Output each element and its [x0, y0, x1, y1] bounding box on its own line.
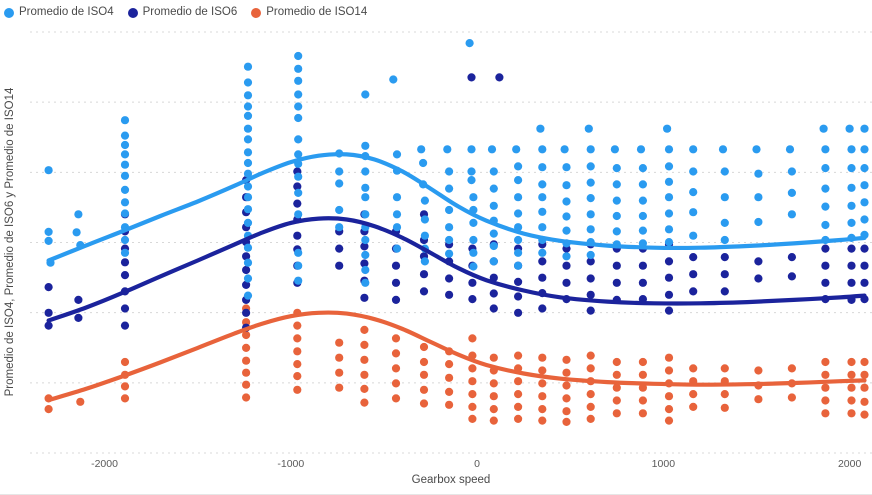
data-point: [361, 279, 369, 287]
data-point: [360, 399, 368, 407]
data-point: [587, 194, 595, 202]
data-point: [721, 253, 729, 261]
data-point: [242, 344, 250, 352]
data-point: [361, 90, 369, 98]
data-point: [293, 232, 301, 240]
data-point: [467, 73, 475, 81]
data-point: [121, 358, 129, 366]
data-point: [754, 257, 762, 265]
data-point: [445, 388, 453, 396]
data-point: [361, 184, 369, 192]
data-point: [468, 377, 476, 385]
data-point: [860, 279, 868, 287]
data-point: [512, 145, 520, 153]
data-point: [587, 352, 595, 360]
data-point: [392, 262, 400, 270]
data-point: [360, 385, 368, 393]
data-point: [242, 266, 250, 274]
data-point: [244, 91, 252, 99]
data-point: [562, 212, 570, 220]
data-point: [665, 307, 673, 315]
data-point: [121, 382, 129, 390]
data-point: [443, 145, 451, 153]
data-point: [587, 291, 595, 299]
data-point: [244, 135, 252, 143]
trend-line-series-1: [49, 154, 865, 260]
data-point: [335, 179, 343, 187]
data-point: [293, 347, 301, 355]
data-point: [721, 390, 729, 398]
data-point: [665, 257, 673, 265]
data-point: [420, 358, 428, 366]
data-point: [665, 238, 673, 246]
data-point: [562, 356, 570, 364]
data-point: [490, 257, 498, 265]
data-point: [242, 393, 250, 401]
data-point: [821, 279, 829, 287]
data-point: [514, 390, 522, 398]
data-point: [639, 409, 647, 417]
data-point: [721, 270, 729, 278]
data-point: [73, 228, 81, 236]
legend-item-label: Promedio de ISO6: [143, 7, 238, 19]
data-point: [468, 390, 476, 398]
data-point: [294, 77, 302, 85]
data-point: [665, 193, 673, 201]
data-point: [860, 181, 868, 189]
data-point: [466, 39, 474, 47]
data-point: [639, 262, 647, 270]
data-point: [293, 386, 301, 394]
data-point: [821, 358, 829, 366]
data-point: [786, 145, 794, 153]
data-point: [587, 210, 595, 218]
data-point: [860, 384, 868, 392]
data-point: [244, 292, 252, 300]
data-point: [721, 193, 729, 201]
legend-item-2[interactable]: Promedio de ISO6: [128, 7, 238, 19]
data-point: [121, 161, 129, 169]
data-point: [490, 392, 498, 400]
data-point: [860, 198, 868, 206]
data-point: [335, 223, 343, 231]
data-point: [45, 237, 53, 245]
data-point: [514, 352, 522, 360]
data-point: [639, 227, 647, 235]
data-point: [514, 377, 522, 385]
data-point: [294, 90, 302, 98]
data-point: [244, 63, 252, 71]
chart-legend: Promedio de ISO4Promedio de ISO6Promedio…: [4, 3, 367, 23]
data-point: [587, 390, 595, 398]
data-point: [121, 236, 129, 244]
data-point: [538, 379, 546, 387]
data-point: [445, 401, 453, 409]
data-point: [788, 253, 796, 261]
data-point: [788, 393, 796, 401]
data-point: [45, 322, 53, 330]
data-point: [538, 257, 546, 265]
data-point: [294, 249, 302, 257]
data-point: [417, 145, 425, 153]
data-point: [538, 366, 546, 374]
data-point: [445, 374, 453, 382]
data-point: [847, 409, 855, 417]
data-point: [846, 125, 854, 133]
data-point: [514, 209, 522, 217]
data-point: [490, 417, 498, 425]
data-point: [665, 209, 673, 217]
data-point: [421, 257, 429, 265]
data-point: [244, 259, 252, 267]
data-point: [244, 159, 252, 167]
data-point: [495, 73, 503, 81]
data-point: [562, 381, 570, 389]
data-point: [665, 366, 673, 374]
data-point: [613, 371, 621, 379]
data-point: [420, 371, 428, 379]
data-point: [538, 145, 546, 153]
data-point: [587, 364, 595, 372]
data-point: [335, 384, 343, 392]
data-point: [665, 225, 673, 233]
data-point: [721, 219, 729, 227]
data-point: [242, 381, 250, 389]
data-point: [244, 125, 252, 133]
data-point: [538, 417, 546, 425]
data-point: [420, 287, 428, 295]
data-point: [587, 145, 595, 153]
data-point: [445, 291, 453, 299]
data-point: [244, 193, 252, 201]
data-point: [244, 274, 252, 282]
data-point: [665, 417, 673, 425]
data-point: [587, 162, 595, 170]
data-point: [76, 398, 84, 406]
data-point: [121, 394, 129, 402]
data-point: [538, 208, 546, 216]
data-point: [860, 145, 868, 153]
data-point: [294, 262, 302, 270]
data-point: [639, 164, 647, 172]
data-point: [587, 179, 595, 187]
data-point: [514, 292, 522, 300]
data-point: [860, 125, 868, 133]
data-point: [293, 322, 301, 330]
data-point: [393, 150, 401, 158]
data-point: [562, 418, 570, 426]
x-axis-tick-label: 0: [474, 458, 480, 470]
data-point: [421, 215, 429, 223]
data-point: [421, 232, 429, 240]
data-point: [392, 296, 400, 304]
data-point: [847, 245, 855, 253]
data-point: [361, 142, 369, 150]
data-point: [469, 249, 477, 257]
data-point: [562, 197, 570, 205]
data-point: [121, 271, 129, 279]
data-point: [665, 274, 673, 282]
data-point: [420, 386, 428, 394]
x-axis-title: Gearbox speed: [30, 474, 872, 486]
data-point: [847, 145, 855, 153]
data-point: [121, 141, 129, 149]
legend-item-label: Promedio de ISO4: [19, 7, 114, 19]
data-point: [242, 369, 250, 377]
data-point: [689, 287, 697, 295]
data-point: [294, 189, 302, 197]
data-point: [514, 415, 522, 423]
data-point: [392, 364, 400, 372]
data-point: [294, 277, 302, 285]
data-point: [361, 193, 369, 201]
data-point: [514, 403, 522, 411]
data-point: [860, 411, 868, 419]
trend-line-series-2: [49, 218, 865, 320]
data-point: [421, 197, 429, 205]
data-point: [754, 366, 762, 374]
data-point: [294, 102, 302, 110]
data-point: [490, 242, 498, 250]
data-point: [538, 304, 546, 312]
data-point: [445, 223, 453, 231]
data-point: [665, 145, 673, 153]
data-point: [244, 205, 252, 213]
circle-marker-icon: [128, 8, 138, 18]
data-point: [562, 369, 570, 377]
data-point: [719, 145, 727, 153]
data-point: [847, 184, 855, 192]
x-axis-tick-label: 2000: [838, 458, 861, 470]
data-point: [335, 369, 343, 377]
data-point: [490, 185, 498, 193]
data-point: [514, 176, 522, 184]
data-point: [360, 326, 368, 334]
data-point: [788, 167, 796, 175]
data-point: [821, 409, 829, 417]
data-point: [788, 272, 796, 280]
data-point: [244, 112, 252, 120]
data-point: [538, 274, 546, 282]
data-point: [587, 251, 595, 259]
data-point: [847, 202, 855, 210]
data-point: [490, 379, 498, 387]
legend-item-1[interactable]: Promedio de ISO4: [4, 7, 114, 19]
data-point: [361, 251, 369, 259]
data-point: [613, 197, 621, 205]
data-point: [360, 356, 368, 364]
data-point: [752, 145, 760, 153]
scatter-series-2: [45, 73, 869, 332]
data-point: [445, 274, 453, 282]
data-point: [613, 396, 621, 404]
data-point: [121, 249, 129, 257]
data-point: [514, 309, 522, 317]
data-point: [360, 294, 368, 302]
data-point: [45, 166, 53, 174]
data-point: [360, 371, 368, 379]
data-point: [689, 167, 697, 175]
data-point: [562, 394, 570, 402]
data-point: [536, 125, 544, 133]
data-point: [244, 244, 252, 252]
data-point: [788, 210, 796, 218]
data-point: [587, 415, 595, 423]
data-point: [538, 405, 546, 413]
x-axis-tick-label: -1000: [277, 458, 304, 470]
data-point: [613, 180, 621, 188]
data-point: [847, 384, 855, 392]
data-point: [335, 339, 343, 347]
data-point: [860, 164, 868, 172]
data-point: [445, 167, 453, 175]
data-point: [721, 236, 729, 244]
data-point: [860, 358, 868, 366]
data-point: [721, 167, 729, 175]
data-point: [562, 252, 570, 260]
data-point: [637, 145, 645, 153]
data-point: [74, 296, 82, 304]
data-point: [393, 223, 401, 231]
data-point: [721, 404, 729, 412]
data-point: [788, 189, 796, 197]
data-point: [847, 371, 855, 379]
data-point: [294, 135, 302, 143]
data-point: [392, 394, 400, 402]
data-point: [242, 309, 250, 317]
data-point: [121, 132, 129, 140]
plot-area[interactable]: [30, 26, 872, 454]
circle-marker-icon: [251, 8, 261, 18]
data-point: [665, 291, 673, 299]
data-point: [445, 185, 453, 193]
data-point: [74, 314, 82, 322]
data-point: [562, 407, 570, 415]
data-point: [821, 384, 829, 392]
data-point: [361, 266, 369, 274]
data-point: [689, 403, 697, 411]
data-point: [613, 227, 621, 235]
data-point: [754, 395, 762, 403]
data-point: [587, 307, 595, 315]
data-point: [45, 228, 53, 236]
data-point: [490, 167, 498, 175]
data-point: [490, 354, 498, 362]
data-point: [293, 360, 301, 368]
data-point: [294, 114, 302, 122]
data-point: [689, 232, 697, 240]
data-point: [468, 415, 476, 423]
data-point: [490, 405, 498, 413]
x-axis-tick-label: 1000: [652, 458, 675, 470]
data-point: [514, 278, 522, 286]
data-point: [788, 364, 796, 372]
data-point: [361, 236, 369, 244]
data-point: [514, 236, 522, 244]
data-point: [393, 210, 401, 218]
data-point: [562, 279, 570, 287]
data-point: [847, 262, 855, 270]
data-point: [561, 145, 569, 153]
data-point: [420, 343, 428, 351]
data-point: [392, 379, 400, 387]
data-point: [562, 262, 570, 270]
data-point: [389, 75, 397, 83]
data-point: [335, 167, 343, 175]
data-point: [689, 364, 697, 372]
data-point: [469, 219, 477, 227]
data-point: [445, 206, 453, 214]
data-point: [467, 145, 475, 153]
data-point: [639, 197, 647, 205]
data-point: [445, 250, 453, 258]
data-point: [639, 180, 647, 188]
data-point: [335, 354, 343, 362]
data-point: [514, 162, 522, 170]
data-point: [613, 384, 621, 392]
data-point: [244, 102, 252, 110]
data-point: [754, 193, 762, 201]
data-point: [821, 145, 829, 153]
x-axis-tick-labels: -2000-1000010002000: [30, 458, 872, 472]
data-point: [293, 200, 301, 208]
data-point: [469, 193, 477, 201]
legend-item-label: Promedio de ISO14: [266, 7, 367, 19]
data-point: [393, 193, 401, 201]
data-point: [639, 396, 647, 404]
data-point: [585, 125, 593, 133]
scatter-chart-visual: Promedio de ISO4Promedio de ISO6Promedio…: [0, 0, 872, 495]
legend-item-3[interactable]: Promedio de ISO14: [251, 7, 367, 19]
data-point: [689, 145, 697, 153]
data-point: [721, 287, 729, 295]
data-point: [538, 163, 546, 171]
data-point: [860, 371, 868, 379]
scatter-series-3: [45, 304, 869, 426]
data-point: [847, 219, 855, 227]
data-point: [490, 230, 498, 238]
data-point: [665, 178, 673, 186]
data-point: [821, 221, 829, 229]
data-point: [514, 193, 522, 201]
data-point: [45, 309, 53, 317]
data-point: [587, 403, 595, 411]
data-point: [490, 304, 498, 312]
data-point: [613, 279, 621, 287]
data-point: [538, 193, 546, 201]
data-point: [821, 203, 829, 211]
data-point: [821, 164, 829, 172]
data-point: [121, 116, 129, 124]
data-point: [613, 358, 621, 366]
data-point: [45, 283, 53, 291]
data-point: [860, 398, 868, 406]
data-point: [468, 295, 476, 303]
data-point: [121, 172, 129, 180]
data-point: [821, 396, 829, 404]
data-point: [639, 212, 647, 220]
data-point: [121, 209, 129, 217]
data-point: [860, 215, 868, 223]
data-point: [293, 334, 301, 342]
data-point: [294, 52, 302, 60]
data-point: [538, 392, 546, 400]
trend-line-series-3: [49, 313, 865, 401]
data-point: [490, 202, 498, 210]
data-point: [393, 245, 401, 253]
data-point: [468, 403, 476, 411]
data-point: [514, 249, 522, 257]
